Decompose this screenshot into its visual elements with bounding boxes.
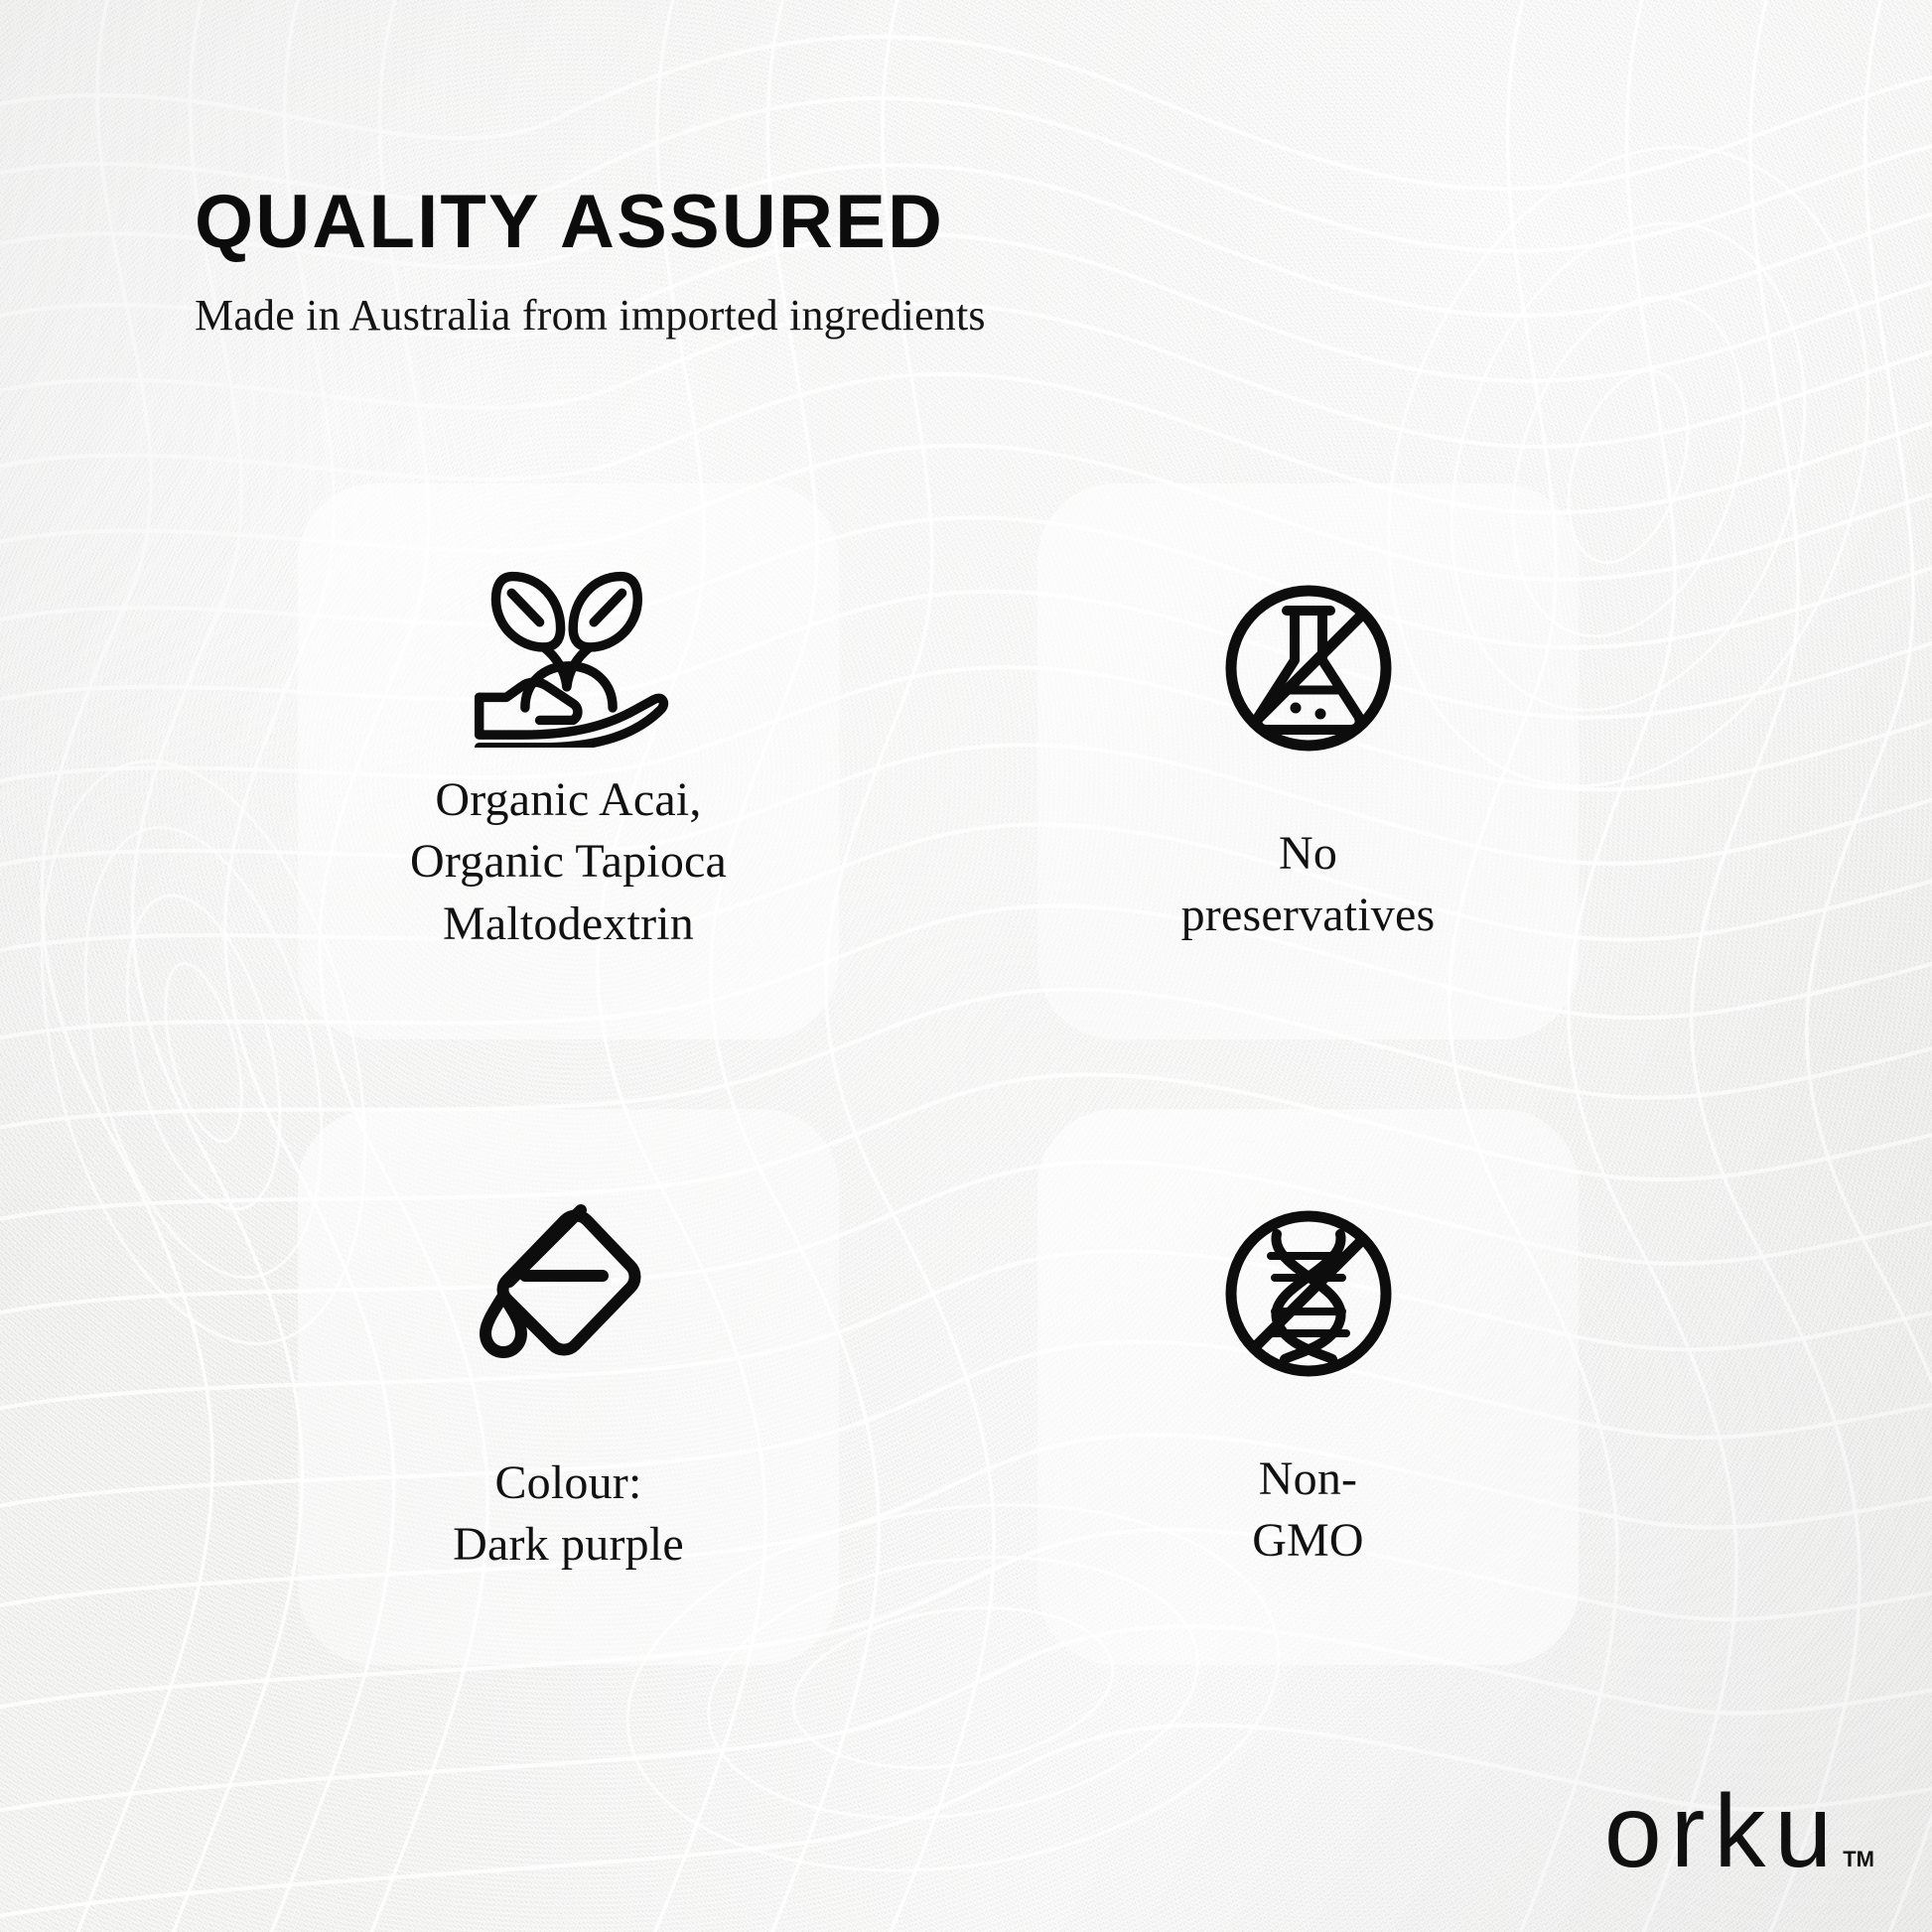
brand-name: orku: [1604, 1785, 1841, 1880]
page-subtitle: Made in Australia from imported ingredie…: [195, 294, 1485, 338]
feature-card-label: No preservatives: [1168, 823, 1449, 947]
feature-card-non-gmo[interactable]: Non- GMO: [1037, 1109, 1579, 1665]
trademark-symbol: TM: [1843, 1847, 1874, 1872]
brand-logo: orku TM: [1604, 1785, 1874, 1880]
feature-card-no-preservatives[interactable]: No preservatives: [1037, 483, 1579, 1039]
header: QUALITY ASSURED Made in Australia from i…: [195, 185, 1485, 338]
feature-card-label: Organic Acai, Organic Tapioca Maltodextr…: [396, 769, 741, 955]
no-gmo-dna-icon: [1204, 1194, 1413, 1393]
feature-card-grid: Organic Acai, Organic Tapioca Maltodextr…: [298, 483, 1638, 1665]
infographic-poster: QUALITY ASSURED Made in Australia from i…: [0, 0, 1932, 1932]
feature-card-organic-ingredients[interactable]: Organic Acai, Organic Tapioca Maltodextr…: [298, 483, 839, 1039]
paint-bucket-icon: [465, 1188, 673, 1387]
page-title: QUALITY ASSURED: [195, 185, 1485, 260]
no-chemicals-flask-icon: [1204, 569, 1413, 767]
feature-card-label: Colour: Dark purple: [439, 1452, 698, 1577]
sprout-in-hand-icon: [465, 549, 673, 748]
feature-card-colour[interactable]: Colour: Dark purple: [298, 1109, 839, 1665]
feature-card-label: Non- GMO: [1238, 1449, 1378, 1573]
